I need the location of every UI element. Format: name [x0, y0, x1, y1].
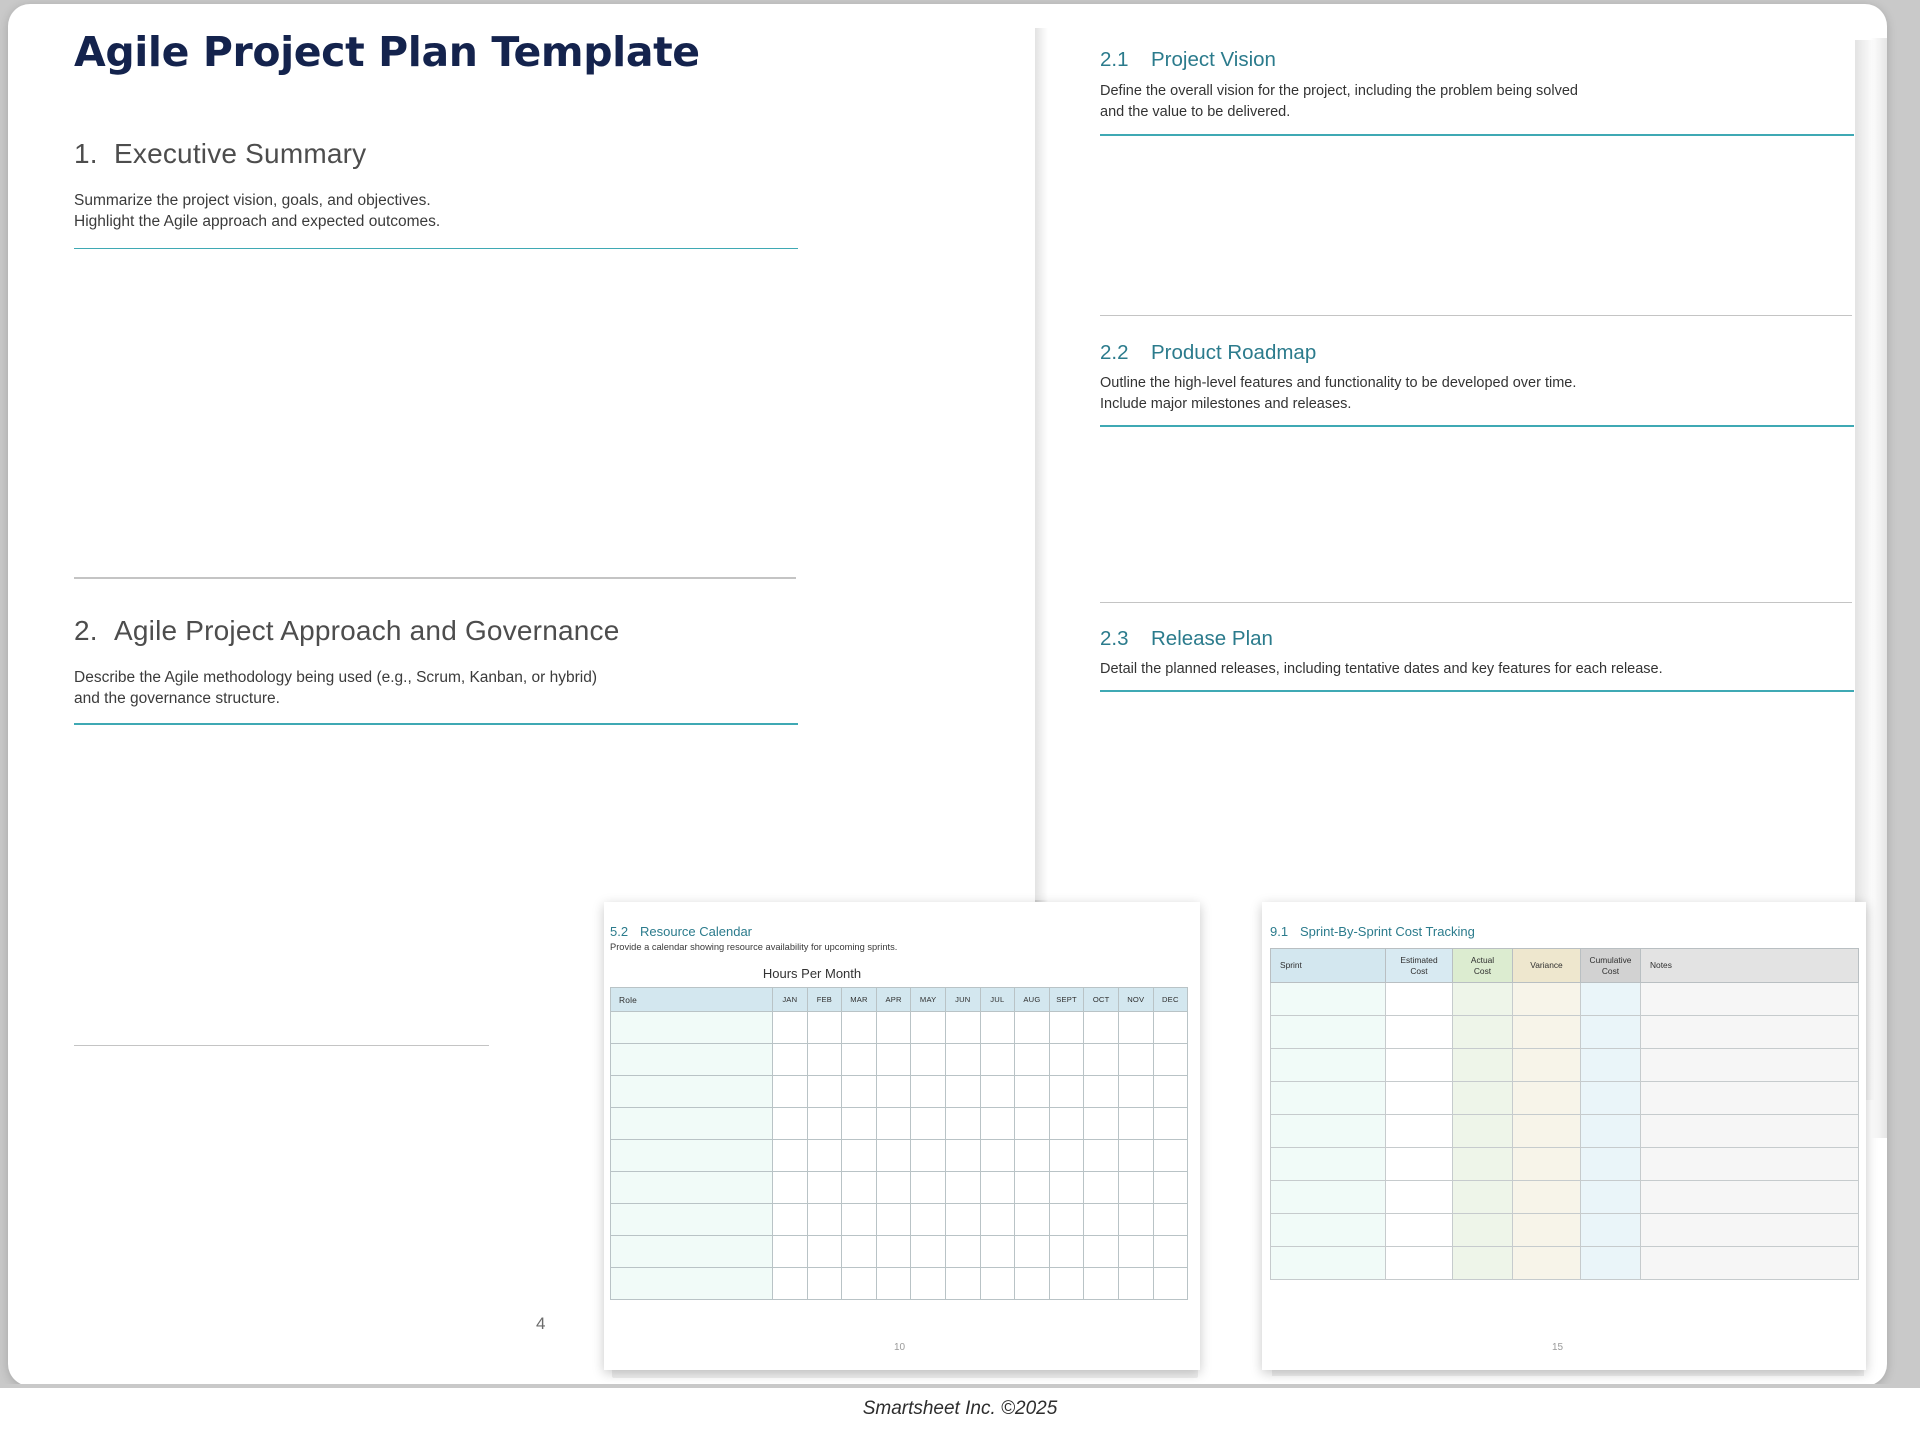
res-col-sept: SEPT — [1049, 988, 1084, 1012]
cell-var[interactable] — [1513, 1148, 1581, 1181]
cell-est[interactable] — [1386, 1214, 1453, 1247]
cell-month[interactable] — [1153, 1236, 1188, 1268]
resource-calendar-title: Resource Calendar — [640, 924, 752, 939]
cell-month[interactable] — [1153, 1012, 1188, 1044]
cell-month[interactable] — [945, 1172, 980, 1204]
cell-month[interactable] — [1153, 1172, 1188, 1204]
section-1-title: Executive Summary — [114, 138, 366, 169]
cell-month[interactable] — [773, 1140, 808, 1172]
table-row[interactable] — [611, 1076, 1188, 1108]
section-project-vision: 2.1Project Vision Define the overall vis… — [1100, 48, 1854, 136]
cell-month[interactable] — [911, 1140, 946, 1172]
cell-var[interactable] — [1513, 1082, 1581, 1115]
sc-col-cumulative: Cumulative Cost — [1581, 949, 1641, 983]
cell-month[interactable] — [1153, 1108, 1188, 1140]
resource-calendar-number: 5.2 — [610, 924, 640, 939]
cell-act[interactable] — [1453, 1181, 1513, 1214]
cell-act[interactable] — [1453, 1148, 1513, 1181]
cell-month[interactable] — [842, 1108, 877, 1140]
cell-month[interactable] — [1049, 1044, 1084, 1076]
cell-month[interactable] — [1084, 1172, 1119, 1204]
section-release-plan: 2.3Release Plan Detail the planned relea… — [1100, 627, 1854, 692]
cell-role[interactable] — [611, 1076, 773, 1108]
cell-month[interactable] — [980, 1140, 1015, 1172]
cell-month[interactable] — [945, 1140, 980, 1172]
cell-month[interactable] — [1084, 1012, 1119, 1044]
cell-month[interactable] — [980, 1172, 1015, 1204]
section-2-heading: 2.Agile Project Approach and Governance — [74, 615, 814, 647]
res-col-feb: FEB — [807, 988, 842, 1012]
section-2-2-title: Product Roadmap — [1151, 341, 1316, 364]
resource-calendar-subtext: Provide a calendar showing resource avai… — [610, 942, 1194, 952]
table-row[interactable] — [611, 1044, 1188, 1076]
cell-sprint[interactable] — [1271, 1049, 1386, 1082]
cell-notes[interactable] — [1641, 983, 1859, 1016]
table-row[interactable] — [611, 1108, 1188, 1140]
cell-month[interactable] — [842, 1268, 877, 1300]
cell-act[interactable] — [1453, 983, 1513, 1016]
cell-var[interactable] — [1513, 1115, 1581, 1148]
cell-month[interactable] — [807, 1172, 842, 1204]
section-1-heading: 1.Executive Summary — [74, 138, 814, 170]
cell-cum[interactable] — [1581, 1247, 1641, 1280]
cell-notes[interactable] — [1641, 1115, 1859, 1148]
cell-month[interactable] — [1153, 1204, 1188, 1236]
cell-sprint[interactable] — [1271, 1148, 1386, 1181]
cell-month[interactable] — [911, 1012, 946, 1044]
sprint-cost-table: Sprint Estimated Cost Actual Cost Varian… — [1270, 948, 1859, 1280]
res-col-role: Role — [611, 988, 773, 1012]
cell-month[interactable] — [980, 1012, 1015, 1044]
left-content-column: Agile Project Plan Template 1.Executive … — [74, 30, 814, 1046]
cell-cum[interactable] — [1581, 1049, 1641, 1082]
cell-month[interactable] — [1118, 1172, 1153, 1204]
cell-month[interactable] — [1084, 1044, 1119, 1076]
cell-sprint[interactable] — [1271, 1247, 1386, 1280]
table-row[interactable] — [1271, 1082, 1859, 1115]
cell-month[interactable] — [1015, 1108, 1050, 1140]
cell-month[interactable] — [876, 1108, 911, 1140]
page-edge-mark-1 — [1035, 28, 1048, 908]
section-2-1-title: Project Vision — [1151, 48, 1276, 71]
cell-act[interactable] — [1453, 1214, 1513, 1247]
cell-month[interactable] — [1015, 1012, 1050, 1044]
cell-sprint[interactable] — [1271, 1016, 1386, 1049]
cell-notes[interactable] — [1641, 1148, 1859, 1181]
sc-col-notes: Notes — [1641, 949, 1859, 983]
cell-month[interactable] — [807, 1140, 842, 1172]
cell-cum[interactable] — [1581, 1148, 1641, 1181]
cell-cum[interactable] — [1581, 1181, 1641, 1214]
cell-month[interactable] — [807, 1268, 842, 1300]
cell-month[interactable] — [876, 1044, 911, 1076]
cell-notes[interactable] — [1641, 1214, 1859, 1247]
cell-month[interactable] — [842, 1044, 877, 1076]
sprint-cost-body — [1271, 983, 1859, 1280]
cell-est[interactable] — [1386, 1148, 1453, 1181]
section-agile-approach: 2.Agile Project Approach and Governance … — [74, 615, 814, 725]
cell-month[interactable] — [1118, 1268, 1153, 1300]
cell-month[interactable] — [773, 1012, 808, 1044]
cell-month[interactable] — [773, 1236, 808, 1268]
cell-month[interactable] — [773, 1204, 808, 1236]
cell-role[interactable] — [611, 1140, 773, 1172]
cell-month[interactable] — [1084, 1140, 1119, 1172]
cell-month[interactable] — [1049, 1204, 1084, 1236]
cell-month[interactable] — [1049, 1172, 1084, 1204]
cell-month[interactable] — [1084, 1076, 1119, 1108]
section-2-1-body: Define the overall vision for the projec… — [1100, 81, 1854, 122]
cell-month[interactable] — [807, 1012, 842, 1044]
section-2-body: Describe the Agile methodology being use… — [74, 667, 814, 710]
cell-month[interactable] — [807, 1236, 842, 1268]
res-col-mar: MAR — [842, 988, 877, 1012]
cell-month[interactable] — [1049, 1268, 1084, 1300]
table-row[interactable] — [1271, 1148, 1859, 1181]
section-1-number: 1. — [74, 138, 114, 170]
res-col-oct: OCT — [1084, 988, 1119, 1012]
cell-month[interactable] — [1049, 1076, 1084, 1108]
cell-month[interactable] — [1153, 1076, 1188, 1108]
sc-col-estimated: Estimated Cost — [1386, 949, 1453, 983]
res-col-jan: JAN — [773, 988, 808, 1012]
cell-month[interactable] — [945, 1268, 980, 1300]
cell-var[interactable] — [1513, 1049, 1581, 1082]
cell-var[interactable] — [1513, 1016, 1581, 1049]
table-row[interactable] — [1271, 1214, 1859, 1247]
cell-month[interactable] — [911, 1204, 946, 1236]
cell-role[interactable] — [611, 1012, 773, 1044]
cell-sprint[interactable] — [1271, 1214, 1386, 1247]
cell-act[interactable] — [1453, 1049, 1513, 1082]
section-2-2-number: 2.2 — [1100, 341, 1151, 365]
card-sprint-cost-tracking: 9.1Sprint-By-Sprint Cost Tracking Sprint… — [1262, 902, 1866, 1370]
cell-month[interactable] — [876, 1172, 911, 1204]
cell-month[interactable] — [1015, 1140, 1050, 1172]
cell-notes[interactable] — [1641, 1181, 1859, 1214]
cell-month[interactable] — [945, 1044, 980, 1076]
sprint-cost-title: Sprint-By-Sprint Cost Tracking — [1300, 924, 1475, 939]
res-col-may: MAY — [911, 988, 946, 1012]
res-col-dec: DEC — [1153, 988, 1188, 1012]
cell-month[interactable] — [1118, 1140, 1153, 1172]
cell-notes[interactable] — [1641, 1016, 1859, 1049]
screenshot-stage: Agile Project Plan Template 1.Executive … — [0, 0, 1920, 1440]
cell-act[interactable] — [1453, 1247, 1513, 1280]
cell-sprint[interactable] — [1271, 1115, 1386, 1148]
cell-month[interactable] — [807, 1108, 842, 1140]
cell-month[interactable] — [876, 1236, 911, 1268]
cell-month[interactable] — [1118, 1076, 1153, 1108]
sc-col-sprint: Sprint — [1271, 949, 1386, 983]
cell-month[interactable] — [1049, 1012, 1084, 1044]
cell-role[interactable] — [611, 1204, 773, 1236]
table-row[interactable] — [1271, 983, 1859, 1016]
cell-month[interactable] — [773, 1076, 808, 1108]
cell-month[interactable] — [911, 1268, 946, 1300]
cell-month[interactable] — [876, 1204, 911, 1236]
cell-month[interactable] — [773, 1108, 808, 1140]
card-resource-calendar: 5.2Resource Calendar Provide a calendar … — [604, 902, 1200, 1370]
cell-sprint[interactable] — [1271, 1181, 1386, 1214]
section-2-3-title: Release Plan — [1151, 627, 1273, 650]
cell-sprint[interactable] — [1271, 1082, 1386, 1115]
cell-month[interactable] — [842, 1076, 877, 1108]
cell-month[interactable] — [1084, 1268, 1119, 1300]
sprint-cost-number: 9.1 — [1270, 924, 1300, 939]
page-number-resource-calendar: 10 — [894, 1342, 905, 1353]
cell-var[interactable] — [1513, 1181, 1581, 1214]
section-2-2-body: Outline the high-level features and func… — [1100, 373, 1854, 414]
cell-month[interactable] — [773, 1044, 808, 1076]
cell-month[interactable] — [807, 1076, 842, 1108]
page-number-main: 4 — [536, 1314, 545, 1334]
res-col-nov: NOV — [1118, 988, 1153, 1012]
resource-calendar-header-row: Role JAN FEB MAR APR MAY JUN JUL AUG SEP… — [611, 988, 1188, 1012]
cell-month[interactable] — [1015, 1268, 1050, 1300]
cell-month[interactable] — [945, 1204, 980, 1236]
table-row[interactable] — [611, 1012, 1188, 1044]
section-2-title: Agile Project Approach and Governance — [114, 615, 620, 646]
cell-month[interactable] — [1118, 1012, 1153, 1044]
section-2-1-number: 2.1 — [1100, 48, 1151, 72]
cell-est[interactable] — [1386, 1016, 1453, 1049]
cell-month[interactable] — [980, 1108, 1015, 1140]
resource-calendar-table: Role JAN FEB MAR APR MAY JUN JUL AUG SEP… — [610, 987, 1188, 1300]
cell-month[interactable] — [807, 1204, 842, 1236]
cell-month[interactable] — [1084, 1204, 1119, 1236]
cell-month[interactable] — [842, 1204, 877, 1236]
cell-var[interactable] — [1513, 1214, 1581, 1247]
cell-cum[interactable] — [1581, 983, 1641, 1016]
cell-month[interactable] — [980, 1204, 1015, 1236]
cell-sprint[interactable] — [1271, 983, 1386, 1016]
cell-role[interactable] — [611, 1172, 773, 1204]
cell-month[interactable] — [1153, 1044, 1188, 1076]
cell-est[interactable] — [1386, 1049, 1453, 1082]
cell-month[interactable] — [876, 1268, 911, 1300]
hours-per-month-label: Hours Per Month — [610, 966, 1194, 981]
cell-month[interactable] — [980, 1076, 1015, 1108]
section-2-number: 2. — [74, 615, 114, 647]
res-col-jun: JUN — [945, 988, 980, 1012]
cell-month[interactable] — [1049, 1140, 1084, 1172]
res-col-apr: APR — [876, 988, 911, 1012]
resource-calendar-heading: 5.2Resource Calendar — [610, 924, 1194, 939]
cell-month[interactable] — [1118, 1108, 1153, 1140]
cell-var[interactable] — [1513, 983, 1581, 1016]
cell-act[interactable] — [1453, 1115, 1513, 1148]
cell-month[interactable] — [1153, 1268, 1188, 1300]
cell-month[interactable] — [1015, 1204, 1050, 1236]
table-row[interactable] — [611, 1172, 1188, 1204]
cell-month[interactable] — [980, 1268, 1015, 1300]
cell-month[interactable] — [1015, 1076, 1050, 1108]
table-row[interactable] — [611, 1140, 1188, 1172]
section-2-3-body: Detail the planned releases, including t… — [1100, 659, 1854, 680]
table-row[interactable] — [1271, 1016, 1859, 1049]
sprint-cost-heading: 9.1Sprint-By-Sprint Cost Tracking — [1270, 924, 1860, 939]
cell-cum[interactable] — [1581, 1115, 1641, 1148]
section-2-3-heading: 2.3Release Plan — [1100, 627, 1854, 651]
cell-role[interactable] — [611, 1236, 773, 1268]
cell-month[interactable] — [980, 1236, 1015, 1268]
section-2-3-underline — [1100, 690, 1854, 692]
cell-month[interactable] — [911, 1108, 946, 1140]
document-title: Agile Project Plan Template — [74, 30, 814, 75]
cell-month[interactable] — [945, 1012, 980, 1044]
res-col-jul: JUL — [980, 988, 1015, 1012]
cell-notes[interactable] — [1641, 1247, 1859, 1280]
table-row[interactable] — [1271, 1247, 1859, 1280]
cell-month[interactable] — [911, 1076, 946, 1108]
table-row[interactable] — [1271, 1049, 1859, 1082]
section-product-roadmap: 2.2Product Roadmap Outline the high-leve… — [1100, 341, 1854, 427]
cell-month[interactable] — [1118, 1044, 1153, 1076]
resource-calendar-body — [611, 1012, 1188, 1300]
cell-role[interactable] — [611, 1108, 773, 1140]
sprint-cost-header-row: Sprint Estimated Cost Actual Cost Varian… — [1271, 949, 1859, 983]
cell-month[interactable] — [842, 1172, 877, 1204]
cell-month[interactable] — [1049, 1236, 1084, 1268]
cell-est[interactable] — [1386, 1082, 1453, 1115]
cell-month[interactable] — [945, 1108, 980, 1140]
table-row[interactable] — [611, 1204, 1188, 1236]
cell-month[interactable] — [911, 1172, 946, 1204]
cell-month[interactable] — [1118, 1204, 1153, 1236]
table-row[interactable] — [1271, 1181, 1859, 1214]
cell-month[interactable] — [876, 1140, 911, 1172]
section-2-3-number: 2.3 — [1100, 627, 1151, 651]
cell-est[interactable] — [1386, 1181, 1453, 1214]
cell-month[interactable] — [773, 1172, 808, 1204]
cell-month[interactable] — [945, 1076, 980, 1108]
cell-month[interactable] — [911, 1044, 946, 1076]
cell-role[interactable] — [611, 1044, 773, 1076]
cell-role[interactable] — [611, 1268, 773, 1300]
cell-act[interactable] — [1453, 1016, 1513, 1049]
cell-month[interactable] — [876, 1012, 911, 1044]
section-2-1-heading: 2.1Project Vision — [1100, 48, 1854, 72]
cell-var[interactable] — [1513, 1247, 1581, 1280]
cell-month[interactable] — [773, 1268, 808, 1300]
cell-est[interactable] — [1386, 1247, 1453, 1280]
cell-est[interactable] — [1386, 983, 1453, 1016]
cell-cum[interactable] — [1581, 1082, 1641, 1115]
section-executive-summary: 1.Executive Summary Summarize the projec… — [74, 138, 814, 249]
section-2-2-heading: 2.2Product Roadmap — [1100, 341, 1854, 365]
res-col-aug: AUG — [1015, 988, 1050, 1012]
right-content-column: 2.1Project Vision Define the overall vis… — [1100, 48, 1854, 692]
cell-month[interactable] — [1015, 1236, 1050, 1268]
cell-month[interactable] — [1084, 1236, 1119, 1268]
cell-cum[interactable] — [1581, 1214, 1641, 1247]
cell-month[interactable] — [980, 1044, 1015, 1076]
cell-notes[interactable] — [1641, 1049, 1859, 1082]
cell-month[interactable] — [842, 1012, 877, 1044]
cell-month[interactable] — [1015, 1044, 1050, 1076]
table-row[interactable] — [611, 1236, 1188, 1268]
cell-month[interactable] — [1153, 1140, 1188, 1172]
bottom-divider-left — [74, 1045, 489, 1046]
sc-col-actual: Actual Cost — [1453, 949, 1513, 983]
cell-act[interactable] — [1453, 1082, 1513, 1115]
cell-month[interactable] — [1049, 1108, 1084, 1140]
page-number-sprint-cost: 15 — [1552, 1342, 1563, 1353]
footer-copyright: Smartsheet Inc. ©2025 — [0, 1398, 1920, 1420]
cell-notes[interactable] — [1641, 1082, 1859, 1115]
cell-month[interactable] — [842, 1236, 877, 1268]
cell-month[interactable] — [1015, 1172, 1050, 1204]
cell-month[interactable] — [1118, 1236, 1153, 1268]
cell-month[interactable] — [911, 1236, 946, 1268]
table-row[interactable] — [611, 1268, 1188, 1300]
cell-cum[interactable] — [1581, 1016, 1641, 1049]
section-1-body: Summarize the project vision, goals, and… — [74, 190, 814, 233]
cell-month[interactable] — [1084, 1108, 1119, 1140]
table-row[interactable] — [1271, 1115, 1859, 1148]
cell-month[interactable] — [807, 1044, 842, 1076]
cell-month[interactable] — [842, 1140, 877, 1172]
cell-est[interactable] — [1386, 1115, 1453, 1148]
sc-col-variance: Variance — [1513, 949, 1581, 983]
cell-month[interactable] — [945, 1236, 980, 1268]
cell-month[interactable] — [876, 1076, 911, 1108]
